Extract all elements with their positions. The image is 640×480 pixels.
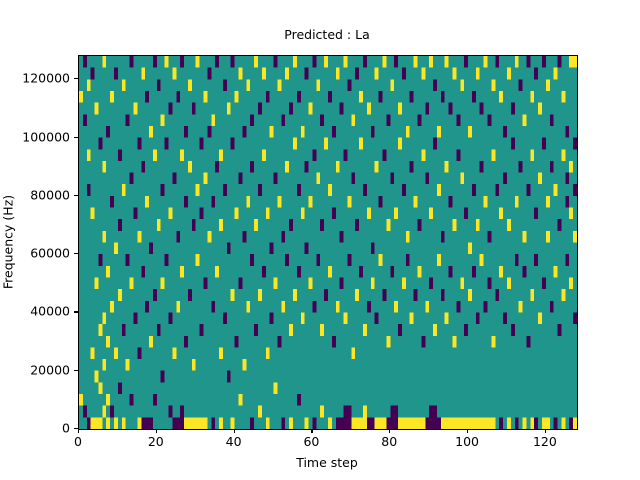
x-tick-label: 40 <box>226 434 242 449</box>
x-tick-label: 20 <box>148 434 164 449</box>
y-tick-label: 60000 <box>70 246 110 261</box>
x-tick <box>467 429 468 433</box>
heatmap-axes <box>78 55 578 430</box>
x-axis-label: Time step <box>78 455 576 470</box>
x-tick-label: 0 <box>74 434 82 449</box>
x-tick-label: 100 <box>455 434 479 449</box>
y-tick-label: 100000 <box>70 129 118 144</box>
x-tick <box>311 429 312 433</box>
y-tick-label: 120000 <box>70 71 118 86</box>
matplotlib-figure: Predicted : La Time step Frequency (Hz) … <box>0 0 640 480</box>
spectrogram-heatmap <box>79 56 577 429</box>
y-tick-label: 0 <box>70 421 78 436</box>
y-tick-label: 40000 <box>70 304 110 319</box>
y-tick-label: 80000 <box>70 187 110 202</box>
x-tick <box>545 429 546 433</box>
x-tick-label: 120 <box>533 434 557 449</box>
x-tick-label: 80 <box>381 434 397 449</box>
x-tick <box>78 429 79 433</box>
x-tick-label: 60 <box>303 434 319 449</box>
y-axis-label-container: Frequency (Hz) <box>0 55 16 428</box>
x-tick <box>156 429 157 433</box>
y-axis-label: Frequency (Hz) <box>1 194 16 288</box>
x-tick <box>234 429 235 433</box>
page-title: Predicted : La <box>78 28 576 42</box>
x-tick <box>389 429 390 433</box>
y-tick-label: 20000 <box>70 362 110 377</box>
